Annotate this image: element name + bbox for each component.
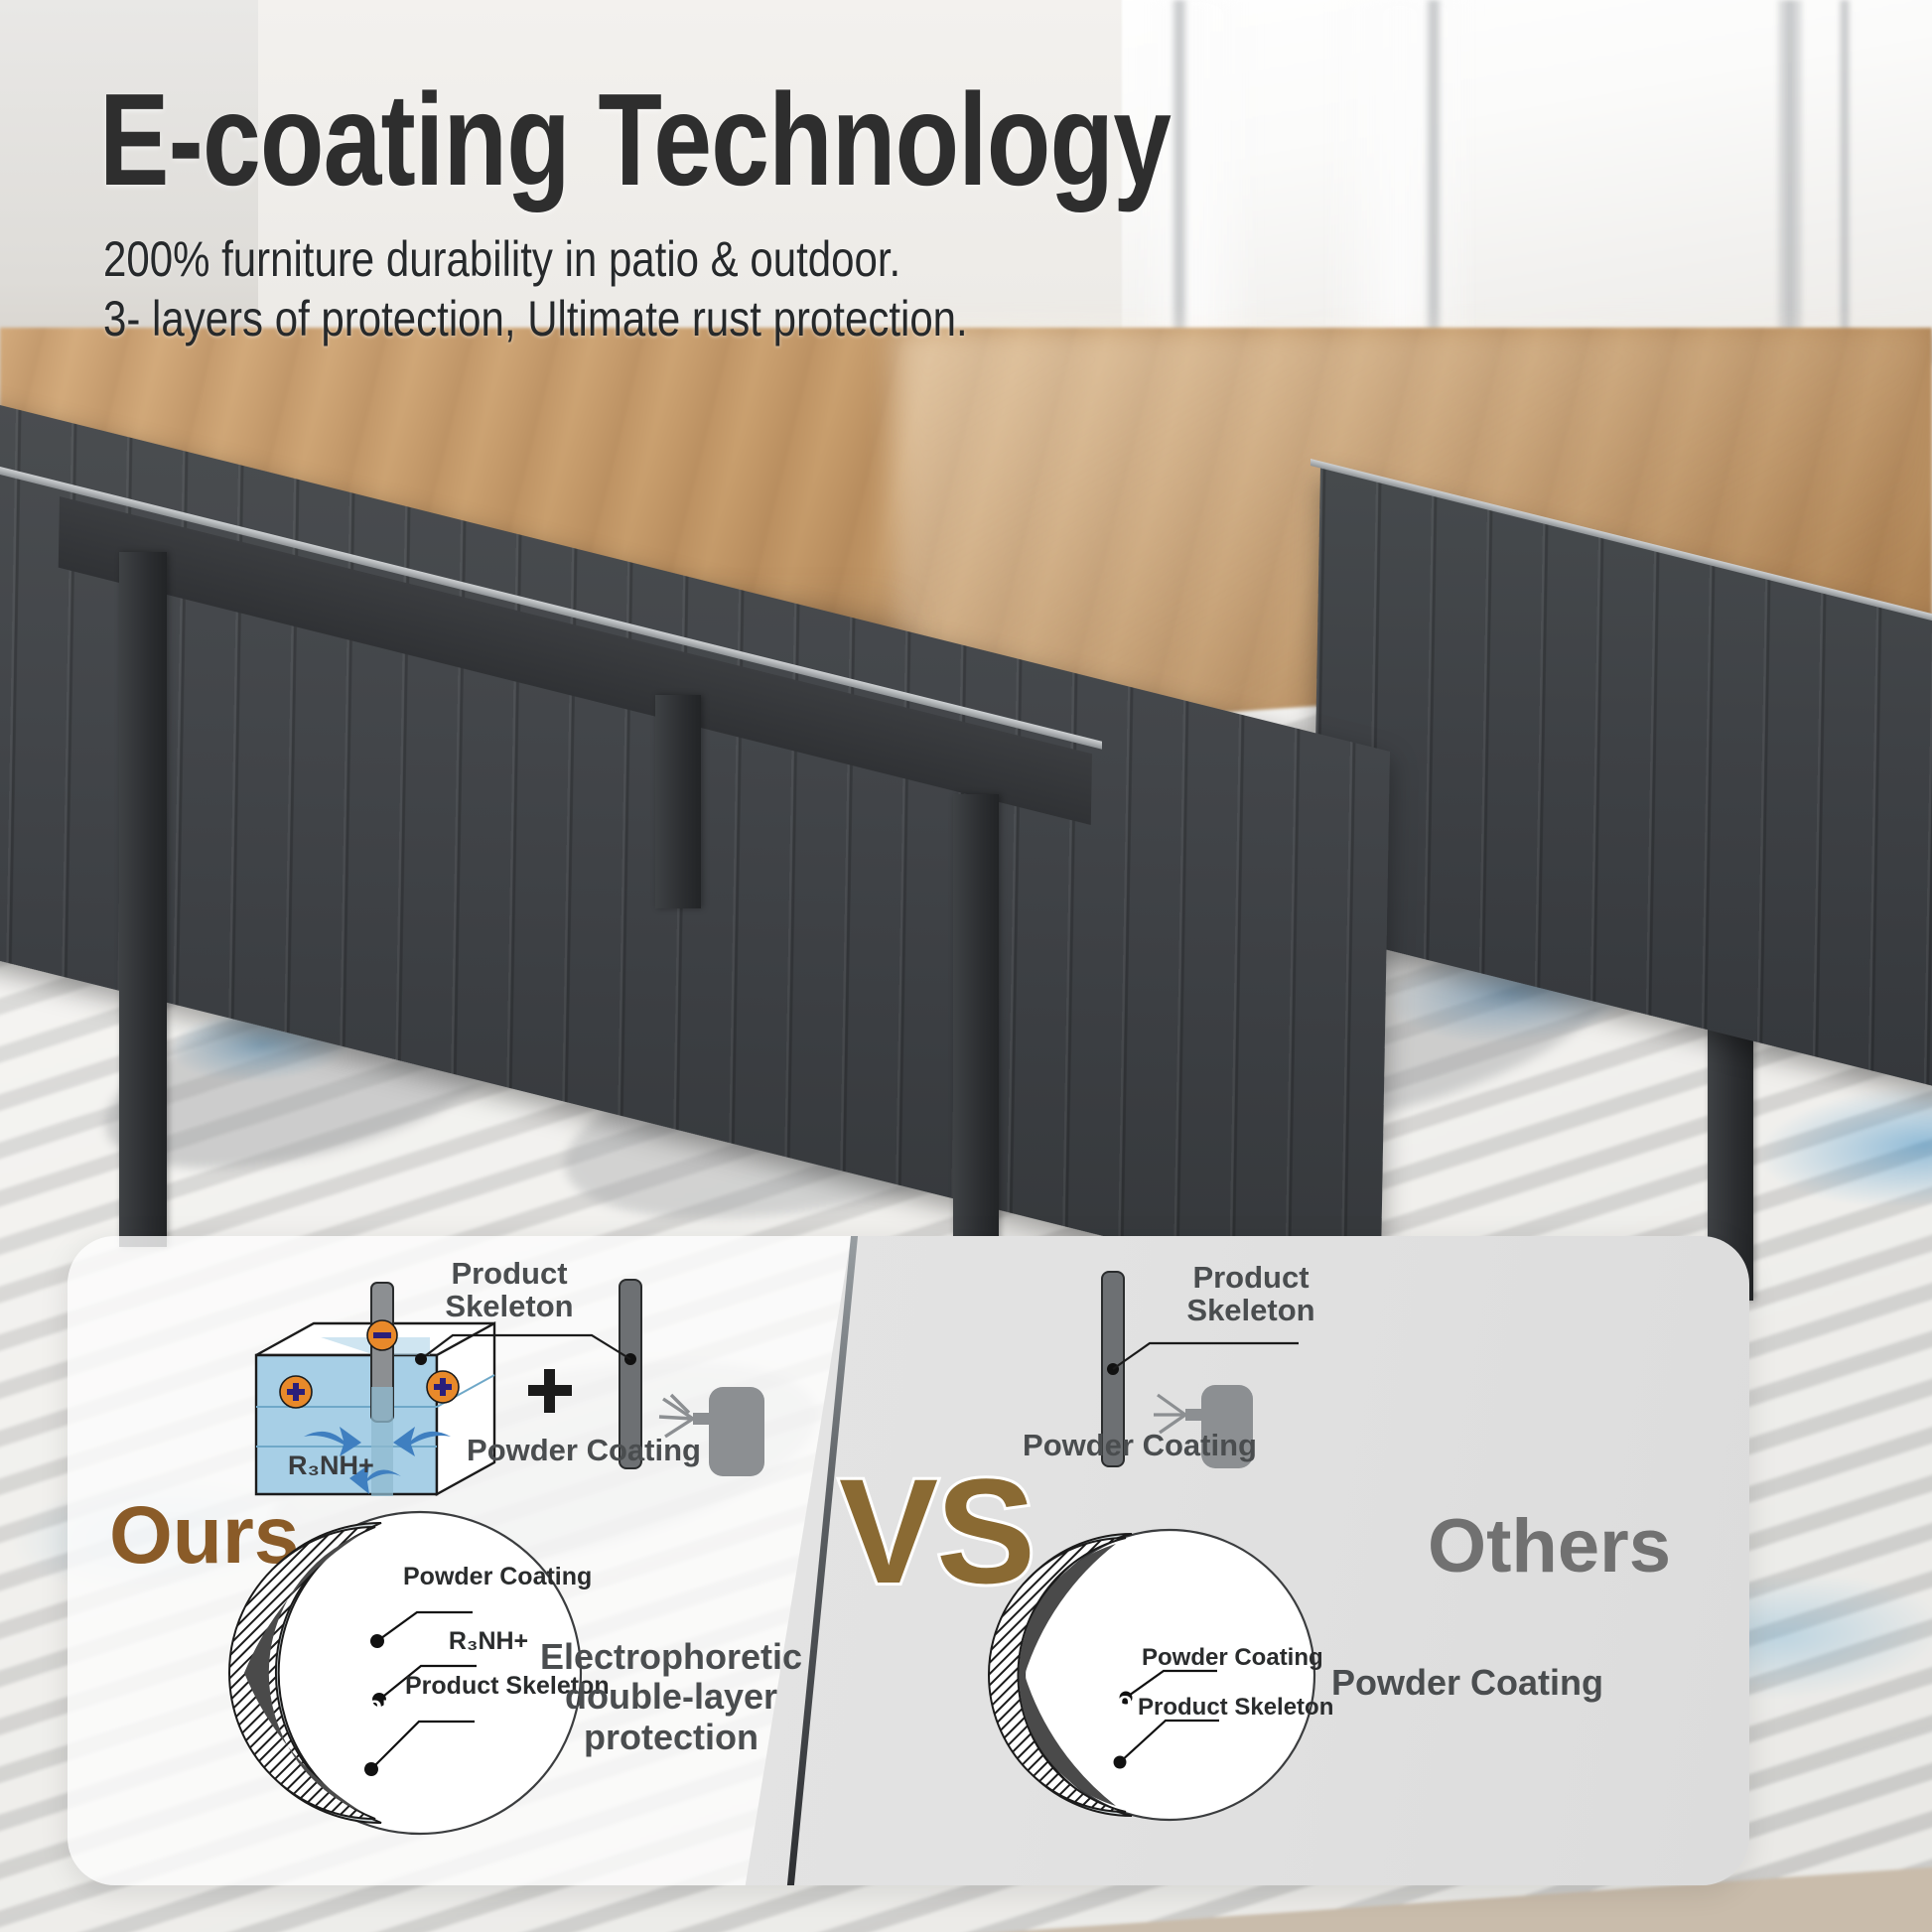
cation-marker-left [280, 1376, 312, 1408]
others-skeleton-label: Product Skeleton [1152, 1262, 1350, 1327]
others-core-label-text: Product Skeleton [1047, 1662, 1147, 1715]
cation-marker-right [427, 1371, 459, 1403]
others-layer-label-powder: Powder Coating [1142, 1645, 1291, 1671]
subtitle-line-1: 200% furniture durability in patio & out… [103, 230, 900, 288]
ours-tagline-line-2: double-layer protection [565, 1676, 777, 1756]
others-tagline-text: Powder Coating [1331, 1662, 1603, 1703]
anion-marker [367, 1320, 397, 1350]
plus-operator-icon [528, 1369, 572, 1413]
vs-label: VS [839, 1446, 1034, 1617]
ours-tagline-line-1: Electrophoretic [540, 1636, 802, 1677]
ours-layer-label-powder: Powder Coating [403, 1564, 562, 1590]
others-layer-label-skeleton: Product Skeleton [1138, 1695, 1297, 1721]
others-heading: Others [1428, 1503, 1671, 1589]
ours-core-label-text: Product Skeleton [294, 1664, 397, 1720]
table-leg-mid [655, 695, 701, 908]
others-powder-coating-label: Powder Coating [991, 1430, 1289, 1462]
ours-powder-coating-text: Powder Coating [467, 1433, 701, 1467]
ours-layer-powder-text: Powder Coating [403, 1563, 592, 1590]
infographic-canvas: E-coating Technology 200% furniture dura… [0, 0, 1932, 1932]
ours-skeleton-label-text: Product Skeleton [445, 1256, 573, 1323]
others-skeleton-label-text: Product Skeleton [1186, 1260, 1314, 1327]
others-powder-coating-text: Powder Coating [1023, 1428, 1257, 1462]
ours-skeleton-label: Product Skeleton [410, 1258, 609, 1323]
page-title: E-coating Technology [99, 74, 1171, 206]
table-leg-right [953, 794, 999, 1271]
ours-tagline: Electrophoretic double-layer protection [473, 1637, 870, 1757]
ours-powder-coating-label: Powder Coating [445, 1435, 723, 1467]
table-leg-front-left [119, 552, 167, 1247]
electrolyte-label: R₃NH+ [288, 1450, 374, 1480]
others-tagline: Powder Coating [1279, 1663, 1656, 1703]
others-skeleton-leader-line [1113, 1343, 1299, 1369]
subtitle-line-2: 3- layers of protection, Ultimate rust p… [103, 290, 968, 347]
immersed-product-skeleton [371, 1283, 393, 1496]
